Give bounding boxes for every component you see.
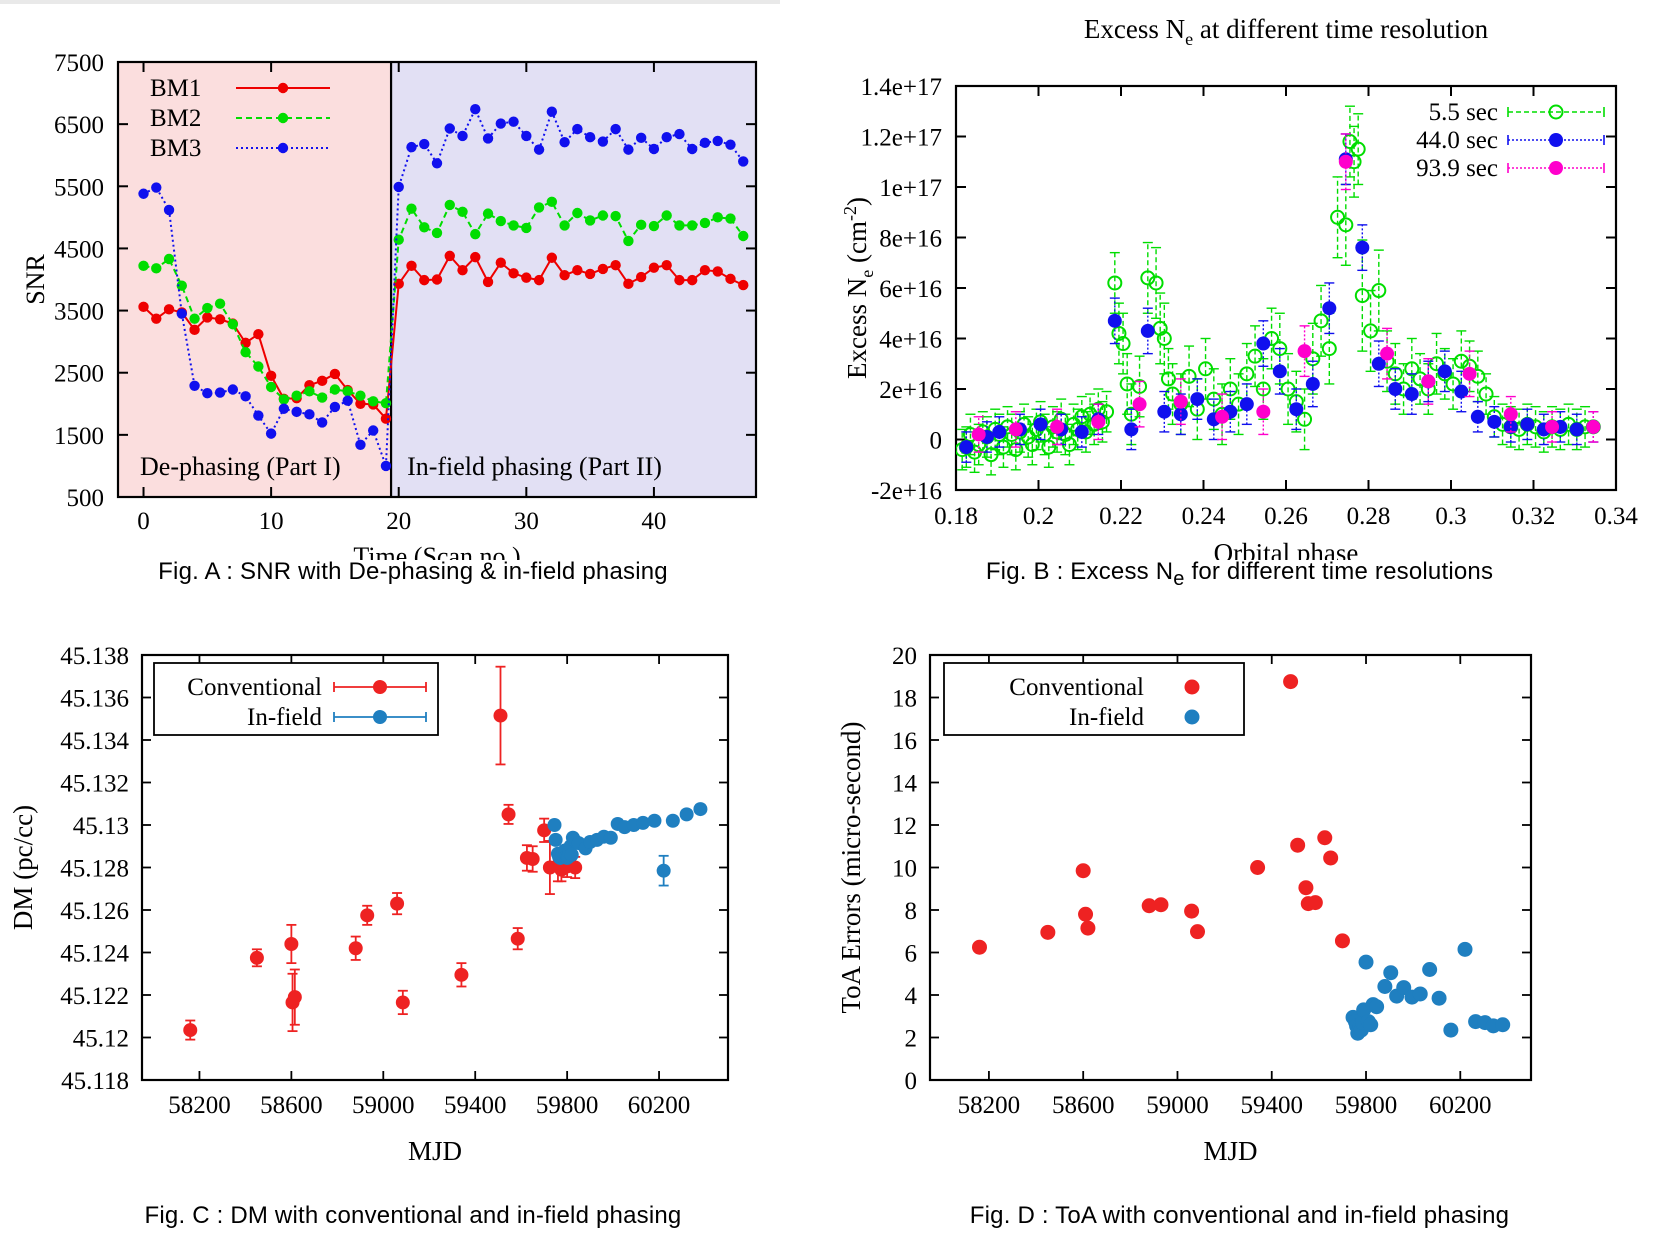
- figure-b-point: [1190, 392, 1204, 406]
- figure-b-caption-post: for different time resolutions: [1185, 558, 1494, 585]
- figure-d-y-ticklabel: 6: [905, 941, 918, 968]
- figure-b-series-5.5 sec: [956, 0, 1600, 475]
- figure-a-point: [572, 265, 582, 275]
- figure-a-legend-label: BM3: [150, 135, 201, 162]
- figure-d-caption: Fig. D : ToA with conventional and in-fi…: [826, 1202, 1653, 1230]
- figure-a-point: [253, 361, 263, 371]
- figure-c-point: [693, 802, 707, 816]
- figure-b-y-ticklabel: 1.2e+17: [861, 125, 942, 152]
- figure-a-point: [394, 235, 404, 245]
- figure-a-point: [649, 144, 659, 154]
- figure-a-point: [674, 129, 684, 139]
- figure-b-x-ticklabel: 0.3: [1435, 503, 1466, 530]
- figure-a-point: [559, 270, 569, 280]
- figure-b-y-ticklabel: 8e+16: [879, 226, 942, 253]
- figure-b-point: [1050, 420, 1064, 434]
- figure-a-point: [445, 200, 455, 210]
- figure-c-legend-marker: [373, 710, 387, 724]
- figure-c-caption: Fig. C : DM with conventional and in-fie…: [0, 1202, 826, 1230]
- figure-c-x-ticklabel: 58600: [260, 1092, 323, 1119]
- figure-d-point: [1363, 1017, 1378, 1032]
- figure-a-point: [330, 369, 340, 379]
- figure-a-point: [291, 391, 301, 401]
- figure-a-point: [649, 221, 659, 231]
- figure-d-point: [1076, 863, 1091, 878]
- figure-b-point: [1322, 301, 1336, 315]
- figure-b-point: [972, 427, 986, 441]
- figure-a-point: [330, 402, 340, 412]
- figure-c-legend-marker: [373, 680, 387, 694]
- figure-d-plot: 0246810121416182058200586005900059400598…: [826, 620, 1653, 1200]
- figure-b-x-ticklabel: 0.28: [1347, 503, 1391, 530]
- figure-d-point: [1317, 830, 1332, 845]
- figure-b-point: [1438, 364, 1452, 378]
- figure-d-y-ticklabel: 18: [892, 686, 917, 713]
- figure-b-point: [1388, 382, 1402, 396]
- figure-b-caption-sub: e: [1173, 568, 1184, 590]
- figure-a-point: [381, 461, 391, 471]
- figure-d-legend-label: Conventional: [1009, 674, 1144, 701]
- figure-b-title: Excess Ne at different time resolution: [1084, 14, 1489, 49]
- figure-d-y-axis-title: ToA Errors (micro-second): [836, 721, 866, 1013]
- figure-b-y-axis-title: Excess Ne (cm-2): [840, 197, 877, 379]
- figure-a-point: [534, 202, 544, 212]
- figure-a-point: [623, 144, 633, 154]
- figure-panel-c: 45.11845.1245.12245.12445.12645.12845.13…: [0, 620, 826, 1240]
- figure-d-point: [1308, 895, 1323, 910]
- figure-b-y-ticklabel: 1.4e+17: [861, 74, 942, 101]
- figure-a-point: [725, 213, 735, 223]
- figure-a-point: [151, 263, 161, 273]
- figure-a-point: [661, 260, 671, 270]
- figure-a-point: [598, 210, 608, 220]
- figure-c-point: [657, 864, 671, 878]
- figure-d-point: [1335, 933, 1350, 948]
- figure-b-y-ticklabel: -2e+16: [871, 478, 942, 505]
- figure-a-legend-label: BM1: [150, 75, 201, 102]
- figure-c-y-ticklabel: 45.118: [61, 1068, 129, 1095]
- figure-b-point: [1034, 417, 1048, 431]
- figure-b-point: [1545, 420, 1559, 434]
- figure-d-point: [1190, 924, 1205, 939]
- figure-d-point: [1250, 860, 1265, 875]
- figure-a-point: [725, 274, 735, 284]
- figure-b-point: [959, 440, 973, 454]
- figure-a-point: [738, 280, 748, 290]
- figure-c-y-ticklabel: 45.132: [60, 771, 129, 798]
- figure-b-y-ticklabel: 2e+16: [879, 377, 942, 404]
- figure-b-point: [1306, 377, 1320, 391]
- figure-c-point: [493, 709, 507, 723]
- figure-a-point: [406, 203, 416, 213]
- figure-d-point: [1443, 1023, 1458, 1038]
- figure-a-point: [700, 218, 710, 228]
- figure-d-point: [1153, 897, 1168, 912]
- figure-c-y-ticklabel: 45.122: [60, 983, 129, 1010]
- figure-c-y-ticklabel: 45.128: [60, 856, 129, 883]
- figure-a-point: [355, 440, 365, 450]
- figure-a-point: [661, 132, 671, 142]
- figure-a-point: [508, 220, 518, 230]
- figure-a-point: [406, 142, 416, 152]
- figure-a-point: [700, 138, 710, 148]
- figure-c-point: [604, 831, 618, 845]
- figure-d-point: [1184, 904, 1199, 919]
- figure-d-point: [1078, 907, 1093, 922]
- figure-a-point: [547, 253, 557, 263]
- figure-a-point: [279, 404, 289, 414]
- figure-c-legend-label: Conventional: [187, 674, 322, 701]
- figure-a-y-ticklabel: 2500: [54, 361, 104, 388]
- figure-a-point: [457, 207, 467, 217]
- figure-b-point: [1405, 387, 1419, 401]
- figure-a-x-ticklabel: 0: [137, 508, 150, 535]
- figure-a-caption: Fig. A : SNR with De-phasing & in-field …: [0, 558, 826, 586]
- figure-b-x-ticklabel: 0.2: [1023, 503, 1054, 530]
- figure-d-point: [1458, 942, 1473, 957]
- figure-b-x-ticklabel: 0.24: [1182, 503, 1226, 530]
- figure-d-y-ticklabel: 8: [905, 898, 918, 925]
- figure-a-point: [432, 274, 442, 284]
- figure-a-point: [432, 158, 442, 168]
- figure-panel-b: Excess Ne at different time resolution-2…: [826, 0, 1653, 620]
- figure-b-point: [1339, 155, 1353, 169]
- figure-a-point: [738, 231, 748, 241]
- figure-c-point: [526, 852, 540, 866]
- figure-b-point: [1355, 241, 1369, 255]
- figure-a-point: [215, 314, 225, 324]
- figure-c-point: [511, 932, 525, 946]
- figure-grid: 5001500250035004500550065007500010203040…: [0, 0, 1653, 1240]
- figure-a-point: [406, 261, 416, 271]
- figure-b-x-ticklabel: 0.26: [1264, 503, 1308, 530]
- figure-a-y-ticklabel: 3500: [54, 299, 104, 326]
- figure-b-x-axis-title: Orbital phase: [1214, 538, 1359, 560]
- figure-a-point: [151, 182, 161, 192]
- figure-c-y-axis-title: DM (pc/cc): [8, 805, 38, 930]
- figure-a-point: [559, 137, 569, 147]
- figure-a-point: [713, 136, 723, 146]
- figure-c-point: [360, 908, 374, 922]
- figure-b-legend: 5.5 sec44.0 sec93.9 sec: [1416, 99, 1604, 182]
- figure-a-point: [483, 208, 493, 218]
- figure-a-point: [649, 262, 659, 272]
- figure-a-point: [508, 268, 518, 278]
- figure-d-point: [1369, 999, 1384, 1014]
- figure-b-y-ticklabel: 4e+16: [879, 327, 942, 354]
- figure-a-point: [521, 131, 531, 141]
- figure-b-point: [1487, 415, 1501, 429]
- figure-d-legend-label: In-field: [1069, 704, 1144, 731]
- figure-a-point: [215, 387, 225, 397]
- figure-a-point: [700, 265, 710, 275]
- figure-a-point: [470, 104, 480, 114]
- figure-a-point: [138, 302, 148, 312]
- figure-d-point: [1383, 965, 1398, 980]
- figure-b-x-ticklabel: 0.22: [1099, 503, 1143, 530]
- figure-b-legend-label: 93.9 sec: [1416, 155, 1498, 182]
- figure-b-point: [1586, 420, 1600, 434]
- figure-c-point: [250, 951, 264, 965]
- figure-c-y-ticklabel: 45.126: [60, 898, 129, 925]
- figure-b-legend-marker: [1549, 161, 1563, 175]
- figure-b-point: [1215, 410, 1229, 424]
- figure-c-x-axis-title: MJD: [408, 1136, 462, 1166]
- figure-b-point: [1157, 405, 1171, 419]
- figure-a-y-ticklabel: 500: [67, 485, 105, 512]
- figure-d-point: [1283, 674, 1298, 689]
- figure-a-point: [304, 386, 314, 396]
- figure-a-point: [674, 275, 684, 285]
- figure-a-point: [725, 139, 735, 149]
- figure-d-x-ticklabel: 59400: [1240, 1092, 1303, 1119]
- figure-c-point: [647, 814, 661, 828]
- figure-a-point: [317, 376, 327, 386]
- figure-a-point: [610, 260, 620, 270]
- figure-a-point: [164, 205, 174, 215]
- figure-a-point: [457, 131, 467, 141]
- figure-b-x-ticklabel: 0.34: [1594, 503, 1638, 530]
- figure-a-point: [304, 409, 314, 419]
- figure-a-legend-marker: [278, 83, 288, 93]
- figure-d-y-ticklabel: 14: [892, 771, 918, 798]
- figure-d-legend: ConventionalIn-field: [944, 663, 1244, 735]
- figure-d-x-ticklabel: 59000: [1146, 1092, 1209, 1119]
- figure-a-point: [547, 197, 557, 207]
- figure-a-point: [496, 216, 506, 226]
- figure-c-point: [349, 941, 363, 955]
- figure-a-point: [228, 384, 238, 394]
- figure-b-x-ticklabel: 0.32: [1512, 503, 1556, 530]
- figure-d-y-ticklabel: 2: [905, 1026, 918, 1053]
- figure-d-legend-marker: [1185, 710, 1200, 725]
- figure-a-point: [177, 308, 187, 318]
- figure-a-point: [483, 133, 493, 143]
- figure-d-point: [1290, 838, 1305, 853]
- figure-a-point: [151, 313, 161, 323]
- figure-b-legend-label: 44.0 sec: [1416, 127, 1498, 154]
- figure-c-point: [288, 990, 302, 1004]
- figure-c-y-ticklabel: 45.12: [73, 1026, 129, 1053]
- figure-d-series-In-field: [1346, 942, 1511, 1041]
- figure-a-point: [432, 228, 442, 238]
- figure-a-y-ticklabel: 1500: [54, 423, 104, 450]
- figure-b-point: [1108, 314, 1122, 328]
- figure-a-point: [598, 136, 608, 146]
- figure-b-y-ticklabel: 0: [930, 428, 943, 455]
- figure-b-point: [1174, 395, 1188, 409]
- figure-a-point: [189, 381, 199, 391]
- figure-d-point: [1298, 880, 1313, 895]
- figure-a-point: [202, 312, 212, 322]
- figure-d-point: [1377, 979, 1392, 994]
- figure-d-x-ticklabel: 58200: [958, 1092, 1021, 1119]
- figure-a-point: [228, 319, 238, 329]
- figure-a-point: [266, 428, 276, 438]
- figure-a-point: [610, 211, 620, 221]
- figure-a-point: [674, 220, 684, 230]
- figure-c-x-ticklabel: 59800: [536, 1092, 599, 1119]
- figure-d-point: [1359, 955, 1374, 970]
- figure-a-point: [419, 275, 429, 285]
- figure-b-point: [1570, 422, 1584, 436]
- figure-a-point: [496, 118, 506, 128]
- figure-c-point: [547, 818, 561, 832]
- figure-d-x-ticklabel: 58600: [1052, 1092, 1115, 1119]
- figure-b-point: [1009, 422, 1023, 436]
- figure-d-y-ticklabel: 20: [892, 643, 917, 670]
- figure-b-caption-pre: Fig. B : Excess N: [986, 558, 1173, 585]
- figure-a-point: [253, 329, 263, 339]
- figure-b-point: [1289, 402, 1303, 416]
- figure-a-point: [419, 222, 429, 232]
- figure-a-point: [585, 215, 595, 225]
- figure-a-point: [291, 407, 301, 417]
- figure-a-x-ticklabel: 20: [386, 508, 411, 535]
- figure-d-point: [1413, 986, 1428, 1001]
- figure-a-point: [253, 410, 263, 420]
- figure-a-point: [470, 252, 480, 262]
- figure-a-x-ticklabel: 30: [514, 508, 539, 535]
- figure-b-point: [1463, 367, 1477, 381]
- figure-a-point: [534, 275, 544, 285]
- figure-a-point: [687, 275, 697, 285]
- figure-a-point: [713, 212, 723, 222]
- figure-d-point: [1495, 1017, 1510, 1032]
- figure-d-point: [1323, 850, 1338, 865]
- figure-a-region-label-1: De-phasing (Part I): [140, 452, 341, 481]
- figure-a-region-label-2: In-field phasing (Part II): [407, 452, 662, 481]
- figure-d-point: [1432, 991, 1447, 1006]
- figure-d-x-axis-title: MJD: [1203, 1136, 1257, 1166]
- figure-b-point: [1256, 405, 1270, 419]
- figure-a-y-ticklabel: 4500: [54, 236, 104, 263]
- figure-b-point: [1133, 397, 1147, 411]
- figure-a-legend-marker: [278, 143, 288, 153]
- figure-c-plot: 45.11845.1245.12245.12445.12645.12845.13…: [0, 620, 826, 1200]
- figure-c-point: [396, 995, 410, 1009]
- figure-c-y-ticklabel: 45.138: [60, 643, 129, 670]
- figure-a-point: [279, 394, 289, 404]
- figure-a-point: [355, 391, 365, 401]
- figure-b-plot: Excess Ne at different time resolution-2…: [826, 0, 1653, 560]
- figure-a-point: [623, 236, 633, 246]
- figure-a-point: [636, 272, 646, 282]
- figure-d-point: [972, 940, 987, 955]
- figure-a-point: [342, 395, 352, 405]
- figure-a-point: [661, 210, 671, 220]
- figure-a-point: [598, 264, 608, 274]
- figure-b-legend-marker: [1549, 133, 1563, 147]
- figure-b-y-ticklabel: 1e+17: [879, 175, 942, 202]
- figure-b-x-ticklabel: 0.18: [934, 503, 978, 530]
- figure-b-point: [1075, 425, 1089, 439]
- figure-panel-a: 5001500250035004500550065007500010203040…: [0, 0, 826, 620]
- figure-a-point: [240, 391, 250, 401]
- figure-a-point: [164, 304, 174, 314]
- figure-a-point: [342, 386, 352, 396]
- figure-a-point: [215, 299, 225, 309]
- figure-d-legend-marker: [1185, 680, 1200, 695]
- figure-c-y-ticklabel: 45.134: [60, 728, 129, 755]
- figure-a-point: [330, 384, 340, 394]
- figure-a-point: [202, 388, 212, 398]
- figure-panel-d: 0246810121416182058200586005900059400598…: [826, 620, 1653, 1240]
- figure-a-point: [572, 208, 582, 218]
- figure-a-point: [483, 277, 493, 287]
- figure-b-legend-label: 5.5 sec: [1429, 99, 1498, 126]
- figure-a-point: [610, 124, 620, 134]
- figure-a-point: [381, 414, 391, 424]
- figure-a-point: [138, 261, 148, 271]
- figure-a-point: [394, 182, 404, 192]
- figure-a-point: [317, 392, 327, 402]
- figure-a-point: [713, 266, 723, 276]
- figure-c-x-ticklabel: 60200: [628, 1092, 691, 1119]
- figure-c-legend-label: In-field: [247, 704, 322, 731]
- figure-a-y-ticklabel: 7500: [54, 50, 104, 77]
- figure-a-y-ticklabel: 5500: [54, 174, 104, 201]
- figure-a-y-ticklabel: 6500: [54, 112, 104, 139]
- figure-b-point: [1380, 347, 1394, 361]
- figure-b-point: [1471, 410, 1485, 424]
- figure-a-plot: 5001500250035004500550065007500010203040…: [0, 0, 826, 560]
- figure-a-point: [585, 269, 595, 279]
- figure-c-point: [565, 848, 579, 862]
- figure-b-point: [1124, 422, 1138, 436]
- figure-a-point: [445, 123, 455, 133]
- figure-d-y-ticklabel: 0: [905, 1068, 918, 1095]
- figure-a-point: [240, 347, 250, 357]
- figure-a-point: [636, 220, 646, 230]
- figure-d-point: [1422, 962, 1437, 977]
- figure-b-point: [1141, 324, 1155, 338]
- figure-d-y-ticklabel: 4: [905, 983, 918, 1010]
- figure-b-point: [992, 425, 1006, 439]
- figure-a-point: [521, 272, 531, 282]
- figure-a-point: [559, 220, 569, 230]
- figure-b-point: [1256, 337, 1270, 351]
- figure-c-x-ticklabel: 59400: [444, 1092, 507, 1119]
- figure-c-x-ticklabel: 59000: [352, 1092, 415, 1119]
- figure-c-point: [454, 968, 468, 982]
- figure-c-point: [549, 833, 563, 847]
- figure-a-legend-label: BM2: [150, 105, 201, 132]
- figure-b-point: [1240, 397, 1254, 411]
- figure-b-point: [1091, 415, 1105, 429]
- figure-c-x-ticklabel: 58200: [168, 1092, 231, 1119]
- figure-a-point: [496, 258, 506, 268]
- figure-a-point: [636, 133, 646, 143]
- figure-d-x-ticklabel: 60200: [1429, 1092, 1492, 1119]
- figure-a-point: [470, 229, 480, 239]
- figure-c-y-ticklabel: 45.124: [60, 941, 129, 968]
- figure-b-y-ticklabel: 6e+16: [879, 276, 942, 303]
- figure-a-point: [189, 313, 199, 323]
- figure-a-point: [368, 425, 378, 435]
- figure-a-point: [547, 107, 557, 117]
- figure-d-y-ticklabel: 12: [892, 813, 917, 840]
- figure-a-point: [368, 396, 378, 406]
- figure-c-point: [680, 807, 694, 821]
- figure-b-point: [1298, 344, 1312, 358]
- figure-b-point: [1273, 364, 1287, 378]
- figure-a-y-axis-title: SNR: [21, 254, 50, 305]
- figure-a-point: [138, 189, 148, 199]
- figure-c-y-ticklabel: 45.136: [60, 686, 129, 713]
- figure-a-point: [572, 124, 582, 134]
- figure-a-point: [687, 220, 697, 230]
